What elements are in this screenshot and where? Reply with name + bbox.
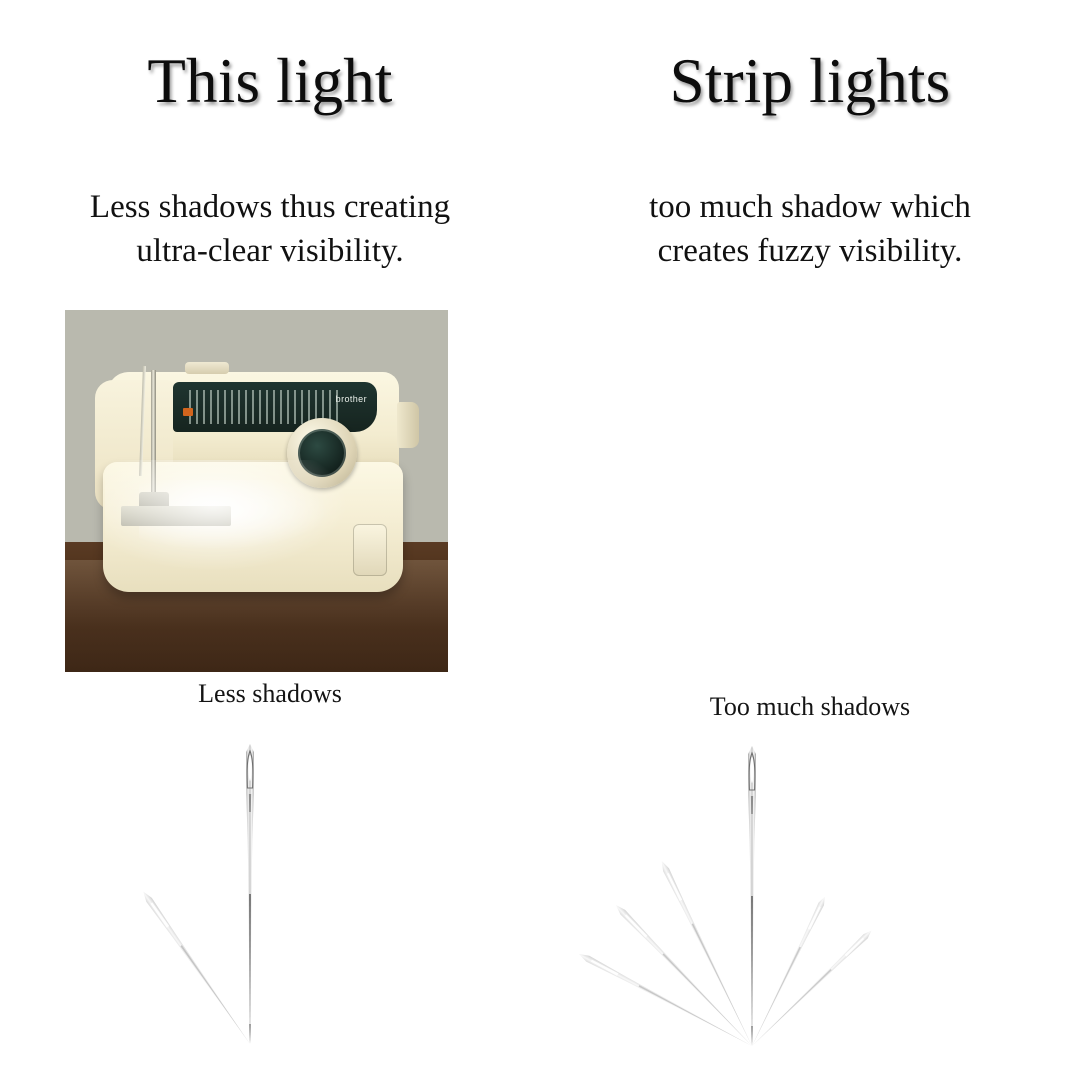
comparison-graphic: This light Less shadows thus creating ul… [0,0,1080,1080]
left-subtitle: Less shadows thus creating ultra-clear v… [8,186,532,273]
spool-pin [185,362,229,374]
needle-bar [151,370,156,496]
needle-shadow-2 [613,903,754,1049]
left-photo-sewing-machine: brother [65,310,448,672]
right-needle-illustration [540,728,1080,1080]
needle-shadow-group [577,859,873,1049]
right-photo-caption: Too much shadows [540,692,1080,722]
hand-wheel [397,402,419,448]
left-subtitle-line-2: ultra-clear visibility. [8,230,532,274]
left-photo-caption: Less shadows [0,679,540,709]
needle-shadow-3 [659,859,755,1047]
brother-logo: brother [336,394,367,404]
needle-plate [121,506,231,526]
needle-main [748,746,756,1046]
needle-shadow-4 [749,895,827,1047]
right-subtitle: too much shadow which creates fuzzy visi… [546,186,1074,273]
needle-shadow-1 [577,951,753,1049]
pattern-dial [287,418,357,488]
left-subtitle-line-1: Less shadows thus creating [8,186,532,230]
needle-shadow-1 [141,890,253,1046]
right-needle-svg [540,728,1080,1080]
left-headline: This light [0,50,540,113]
reverse-lever [353,524,387,576]
right-subtitle-line-1: too much shadow which [546,186,1074,230]
needle-main [246,744,254,1044]
right-subtitle-line-2: creates fuzzy visibility. [546,230,1074,274]
left-panel: This light Less shadows thus creating ul… [0,0,540,1080]
right-panel: Strip lights too much shadow which creat… [540,0,1080,1080]
left-needle-illustration [0,728,540,1080]
left-needle-svg [0,728,540,1080]
orange-indicator [183,408,193,416]
right-headline: Strip lights [540,50,1080,113]
stitch-selector-panel: brother [173,382,377,432]
needle-shadow-5 [750,929,874,1049]
